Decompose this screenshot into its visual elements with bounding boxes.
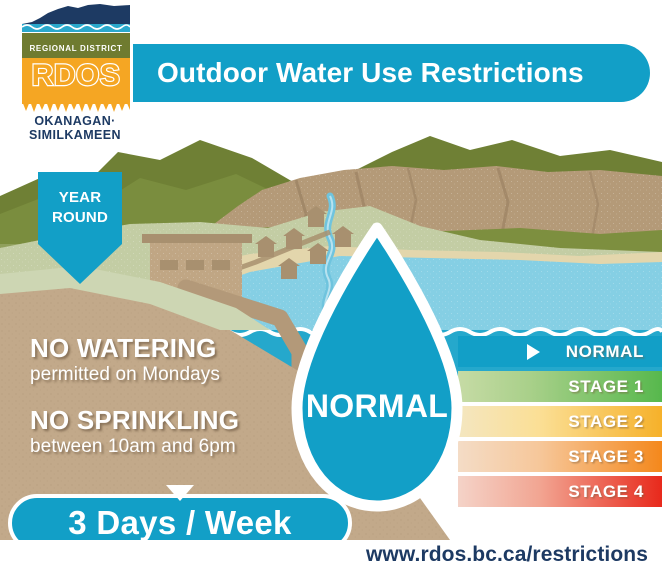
play-triangle-marker-icon <box>527 344 540 360</box>
legend-label-stage4: STAGE 4 <box>568 482 644 502</box>
logo-acronym-panel: RDOS <box>22 58 130 104</box>
legend-label-stage3: STAGE 3 <box>568 447 644 467</box>
rule-spacer <box>30 387 310 405</box>
legend-row-stage2[interactable]: STAGE 2 <box>458 406 662 437</box>
rdos-logo[interactable]: REGIONAL DISTRICT RDOS OKANAGAN· SIMILKA… <box>14 2 136 142</box>
rule-detail-sprinkling: between 10am and 6pm <box>30 435 310 459</box>
legend-row-normal[interactable]: NORMAL <box>458 336 662 367</box>
rule-heading-sprinkling: NO SPRINKLING <box>30 405 310 435</box>
year-round-line-1: YEAR <box>38 188 122 208</box>
legend-label-stage1: STAGE 1 <box>568 377 644 397</box>
stage-legend: NORMAL STAGE 1 STAGE 2 STAGE 3 STAGE 4 <box>458 336 662 511</box>
rule-detail-watering: permitted on Mondays <box>30 363 310 387</box>
logo-region-line-2: SIMILKAMEEN <box>14 128 136 142</box>
water-droplet-indicator: NORMAL <box>281 222 473 514</box>
allowance-label: 3 Days / Week <box>68 504 291 542</box>
pill-notch-icon <box>166 485 194 501</box>
page-title: Outdoor Water Use Restrictions <box>157 57 584 89</box>
legend-row-stage3[interactable]: STAGE 3 <box>458 441 662 472</box>
logo-acronym: RDOS <box>22 59 130 93</box>
sunburst-edge-icon <box>22 101 130 113</box>
legend-label-stage2: STAGE 2 <box>568 412 644 432</box>
legend-label-normal: NORMAL <box>566 342 644 362</box>
year-round-line-2: ROUND <box>38 208 122 228</box>
logo-tagline-band: REGIONAL DISTRICT <box>22 36 130 58</box>
droplet-icon <box>281 222 473 514</box>
footer-url[interactable]: www.rdos.bc.ca/restrictions <box>366 543 648 567</box>
year-round-label: YEAR ROUND <box>38 188 122 228</box>
restriction-rules: NO WATERING permitted on Mondays NO SPRI… <box>30 333 310 459</box>
legend-row-stage1[interactable]: STAGE 1 <box>458 371 662 402</box>
rule-heading-watering: NO WATERING <box>30 333 310 363</box>
footer-bar: www.rdos.bc.ca/restrictions <box>0 540 662 572</box>
year-round-badge: YEAR ROUND <box>38 172 122 284</box>
logo-tagline: REGIONAL DISTRICT <box>29 44 122 53</box>
header-banner: Outdoor Water Use Restrictions <box>133 44 650 102</box>
logo-region-line-1: OKANAGAN· <box>14 114 136 128</box>
water-restrictions-poster: REGIONAL DISTRICT RDOS OKANAGAN· SIMILKA… <box>0 0 662 572</box>
legend-row-stage4[interactable]: STAGE 4 <box>458 476 662 507</box>
droplet-stage-label: NORMAL <box>281 388 473 425</box>
mountain-water-icon <box>22 2 130 36</box>
logo-region-name: OKANAGAN· SIMILKAMEEN <box>14 114 136 142</box>
